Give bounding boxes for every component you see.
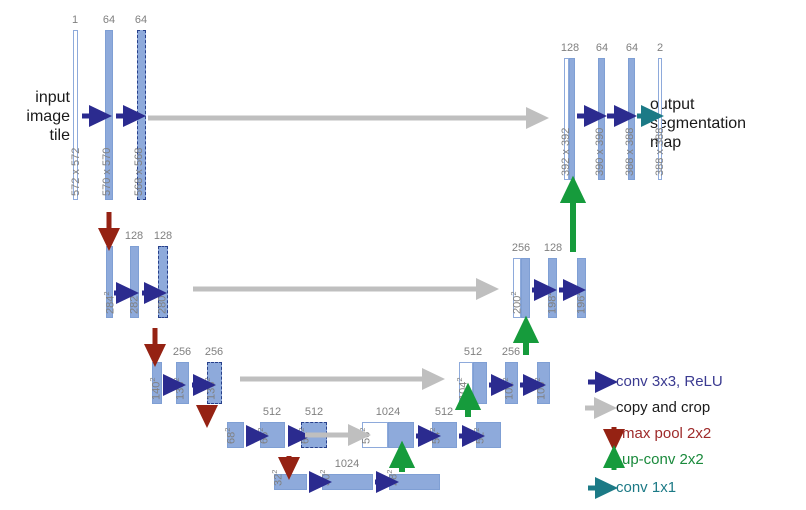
size-enc1-conv1: 570 x 570 xyxy=(101,148,113,196)
channels-enc4-conv1: 512 xyxy=(263,406,281,418)
size-dec1-concat: 392 x 392 xyxy=(560,128,572,176)
sup-102: 2 xyxy=(501,377,510,381)
sup-282: 2 xyxy=(126,291,135,295)
channels-dec1-output: 2 xyxy=(657,42,663,54)
sup-28: 2 xyxy=(385,470,394,474)
size-dec2-conv1: 1982 xyxy=(544,291,559,314)
size-dec4-conv1: 542 xyxy=(428,428,443,444)
channels-enc4-conv2: 512 xyxy=(305,406,323,418)
size-bottleneck-input: 322 xyxy=(270,470,285,486)
size-dec1-conv2: 388 x 388 xyxy=(624,128,636,176)
channels-enc3-conv1: 256 xyxy=(173,346,191,358)
size-enc3-conv2: 1362 xyxy=(203,377,218,400)
size-dec3-conv1: 1022 xyxy=(501,377,516,400)
sup-280: 2 xyxy=(154,291,163,295)
legend-label-conv1x1: conv 1x1 xyxy=(616,479,676,496)
size-dec2-concat: 2002 xyxy=(509,291,524,314)
size-enc3-input: 1402 xyxy=(148,377,163,400)
channels-enc2-conv2: 128 xyxy=(154,230,172,242)
input-tile-line-2: image xyxy=(0,107,70,126)
sup-30: 2 xyxy=(318,470,327,474)
legend-label-max-pool: max pool 2x2 xyxy=(622,425,711,442)
channels-dec1-concat: 128 xyxy=(561,42,579,54)
input-tile-line-3: tile xyxy=(0,126,70,145)
sup-100: 2 xyxy=(533,377,542,381)
sup-284: 2 xyxy=(102,291,111,295)
size-enc2-conv2: 2802 xyxy=(154,291,169,314)
size-enc4-conv1: 662 xyxy=(256,428,271,444)
size-enc2-conv1: 2822 xyxy=(126,291,141,314)
channels-dec3-conv1: 256 xyxy=(502,346,520,358)
legend-label-conv3x3: conv 3x3, ReLU xyxy=(616,373,723,390)
output-label-line-1: output xyxy=(650,95,746,114)
legend-label-copy-and-crop: copy and crop xyxy=(616,399,710,416)
sup-56: 2 xyxy=(358,428,367,432)
size-enc2-input: 2842 xyxy=(102,291,117,314)
sup-68: 2 xyxy=(223,428,232,432)
sup-64: 2 xyxy=(297,428,306,432)
channels-enc1-conv1: 64 xyxy=(103,14,115,26)
size-bottleneck-conv1: 302 xyxy=(318,470,333,486)
size-dec1-conv1: 390 x 390 xyxy=(594,128,606,176)
block-dec4-concat-up xyxy=(388,422,414,448)
channels-dec2-conv1: 128 xyxy=(544,242,562,254)
size-dec4-concat: 562 xyxy=(358,428,373,444)
sup-138: 2 xyxy=(172,377,181,381)
unet-diagram: input image tile output segmentation map… xyxy=(0,0,806,510)
size-dec2-conv2: 1962 xyxy=(573,291,588,314)
block-dec3-concat-up xyxy=(473,362,487,404)
channels-enc2-conv1: 128 xyxy=(125,230,143,242)
size-dec3-conv2: 1002 xyxy=(533,377,548,400)
channels-dec1-conv2: 64 xyxy=(626,42,638,54)
sup-198: 2 xyxy=(544,291,553,295)
legend-icons xyxy=(585,382,614,488)
channels-dec4-conv1: 512 xyxy=(435,406,453,418)
size-dec3-concat: 1042 xyxy=(455,377,470,400)
sup-104: 2 xyxy=(455,377,464,381)
size-enc4-input: 682 xyxy=(223,428,238,444)
sup-32: 2 xyxy=(270,470,279,474)
input-tile-label: input image tile xyxy=(0,88,70,145)
sup-140: 2 xyxy=(148,377,157,381)
size-enc1-input: 572 x 572 xyxy=(70,148,82,196)
size-enc3-conv1: 1382 xyxy=(172,377,187,400)
size-dec4-conv2: 522 xyxy=(472,428,487,444)
channels-enc3-conv2: 256 xyxy=(205,346,223,358)
sup-200: 2 xyxy=(509,291,518,295)
sup-52: 2 xyxy=(472,428,481,432)
size-dec1-output: 388 x 388 xyxy=(654,128,666,176)
sup-54: 2 xyxy=(428,428,437,432)
input-tile-line-1: input xyxy=(0,88,70,107)
sup-196: 2 xyxy=(573,291,582,295)
channels-bottleneck-conv1: 1024 xyxy=(335,458,359,470)
channels-enc1-input: 1 xyxy=(72,14,78,26)
legend-label-up-conv: up-conv 2x2 xyxy=(622,451,704,468)
size-bottleneck-conv2: 282 xyxy=(385,470,400,486)
channels-dec4-concat: 1024 xyxy=(376,406,400,418)
sup-136: 2 xyxy=(203,377,212,381)
size-enc1-conv2: 568 x 568 xyxy=(133,148,145,196)
sup-66: 2 xyxy=(256,428,265,432)
channels-dec1-conv1: 64 xyxy=(596,42,608,54)
channels-dec2-concat: 256 xyxy=(512,242,530,254)
channels-enc1-conv2: 64 xyxy=(135,14,147,26)
size-enc4-conv2: 642 xyxy=(297,428,312,444)
channels-dec3-concat: 512 xyxy=(464,346,482,358)
